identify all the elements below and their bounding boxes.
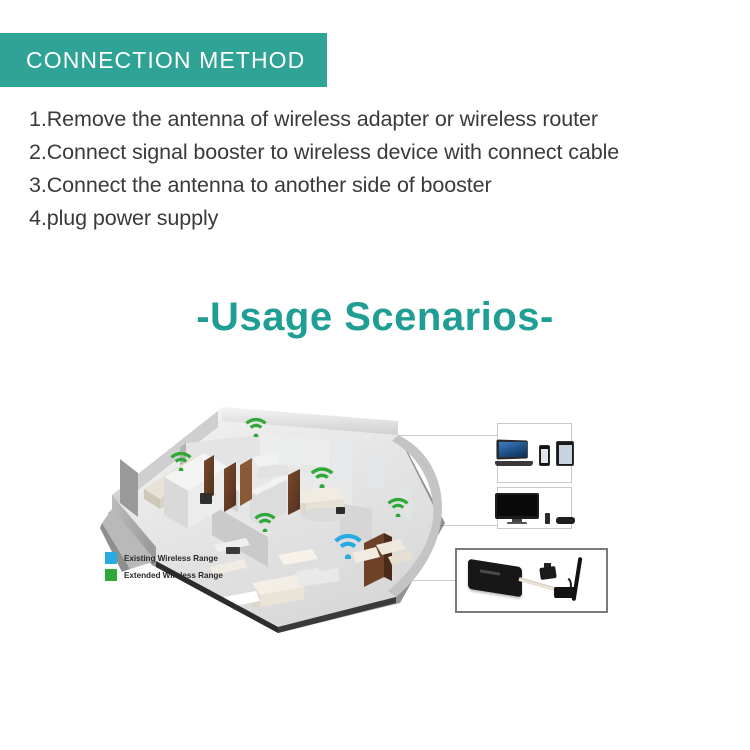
wifi-icon <box>252 510 278 532</box>
wifi-icon <box>331 530 365 559</box>
connection-method-banner: CONNECTION METHOD <box>0 33 327 87</box>
legend-item-extended: Extended Wireless Range <box>105 569 223 581</box>
instruction-step-3: 3.Connect the antenna to another side of… <box>29 169 729 202</box>
wifi-icon <box>385 495 411 517</box>
usb-dongle-icon <box>545 513 550 524</box>
mobile-device-group <box>495 440 574 466</box>
banner-title: CONNECTION METHOD <box>0 47 305 74</box>
legend-item-existing: Existing Wireless Range <box>105 552 223 564</box>
callout-home-entertainment <box>497 487 572 529</box>
laptop-icon <box>495 440 533 466</box>
wifi-icon <box>243 415 269 437</box>
signal-booster-product-image <box>466 555 598 607</box>
page-root: CONNECTION METHOD 1.Remove the antenna o… <box>0 0 750 750</box>
floor-plan-svg <box>100 395 460 645</box>
antenna-icon <box>571 556 582 600</box>
floor-plan-illustration <box>100 395 460 645</box>
legend-label-existing: Existing Wireless Range <box>124 554 218 563</box>
tablet-icon <box>556 441 574 466</box>
callout-signal-booster-product <box>455 548 608 613</box>
instruction-step-1: 1.Remove the antenna of wireless adapter… <box>29 103 729 136</box>
usage-scenario-illustration <box>0 395 750 645</box>
wifi-icon <box>308 464 336 488</box>
television-icon <box>495 493 539 524</box>
usage-scenarios-title: -Usage Scenarios- <box>0 295 750 340</box>
wireless-range-legend: Existing Wireless Range Extended Wireles… <box>105 552 223 586</box>
booster-unit-icon <box>468 558 522 597</box>
instruction-step-2: 2.Connect signal booster to wireless dev… <box>29 136 729 169</box>
callout-mobile-devices <box>497 423 572 483</box>
green-square-swatch-icon <box>105 569 117 581</box>
instruction-step-4: 4.plug power supply <box>29 202 729 235</box>
legend-label-extended: Extended Wireless Range <box>124 571 223 580</box>
instruction-list: 1.Remove the antenna of wireless adapter… <box>29 103 729 235</box>
smartphone-icon <box>539 445 550 466</box>
blue-square-swatch-icon <box>105 552 117 564</box>
entertainment-device-group <box>495 493 575 524</box>
set-top-box-icon <box>556 517 575 524</box>
wifi-icon <box>168 449 194 471</box>
